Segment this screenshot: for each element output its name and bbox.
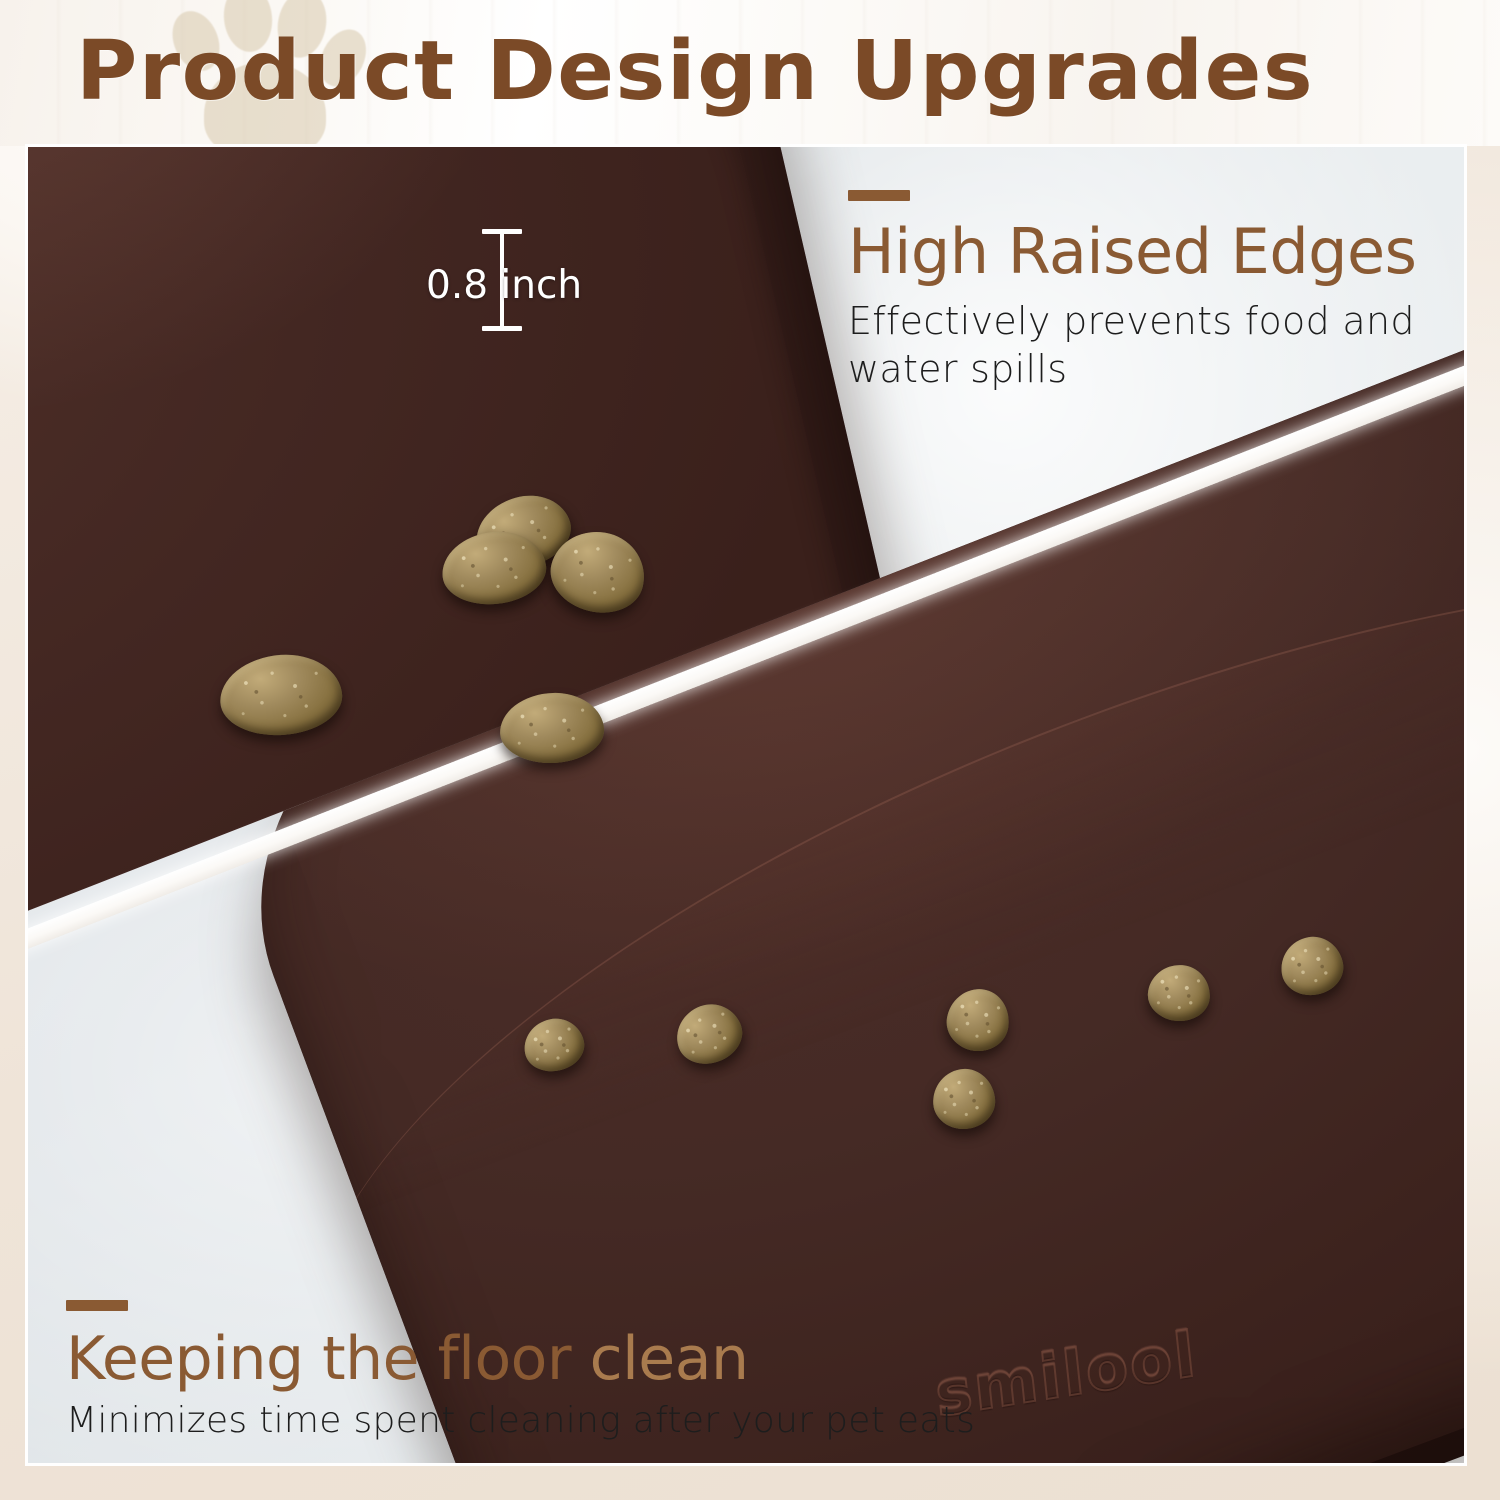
callout-heading-dark: Keeping the floor	[66, 1324, 571, 1394]
callout-subtitle: Minimizes time spent cleaning after your…	[66, 1399, 975, 1443]
callout-keeping-floor-clean: Keeping the floor clean Minimizes time s…	[66, 1300, 975, 1443]
header-band: Product Design Upgrades	[0, 0, 1500, 146]
accent-rule	[66, 1300, 128, 1311]
callout-heading: High Raised Edges	[848, 215, 1458, 289]
dimension-cap-bottom	[482, 326, 522, 331]
accent-rule	[848, 190, 910, 201]
callout-heading-light: clean	[590, 1324, 749, 1394]
page-title: Product Design Upgrades	[76, 20, 1500, 124]
dimension-label: 0.8 inch	[426, 263, 582, 308]
callout-subtitle: Effectively prevents food and water spil…	[848, 297, 1458, 393]
product-infographic: Product Design Upgrades	[0, 0, 1500, 1500]
callout-heading: Keeping the floor clean	[66, 1323, 975, 1395]
callout-high-raised-edges: High Raised Edges Effectively prevents f…	[848, 190, 1458, 393]
